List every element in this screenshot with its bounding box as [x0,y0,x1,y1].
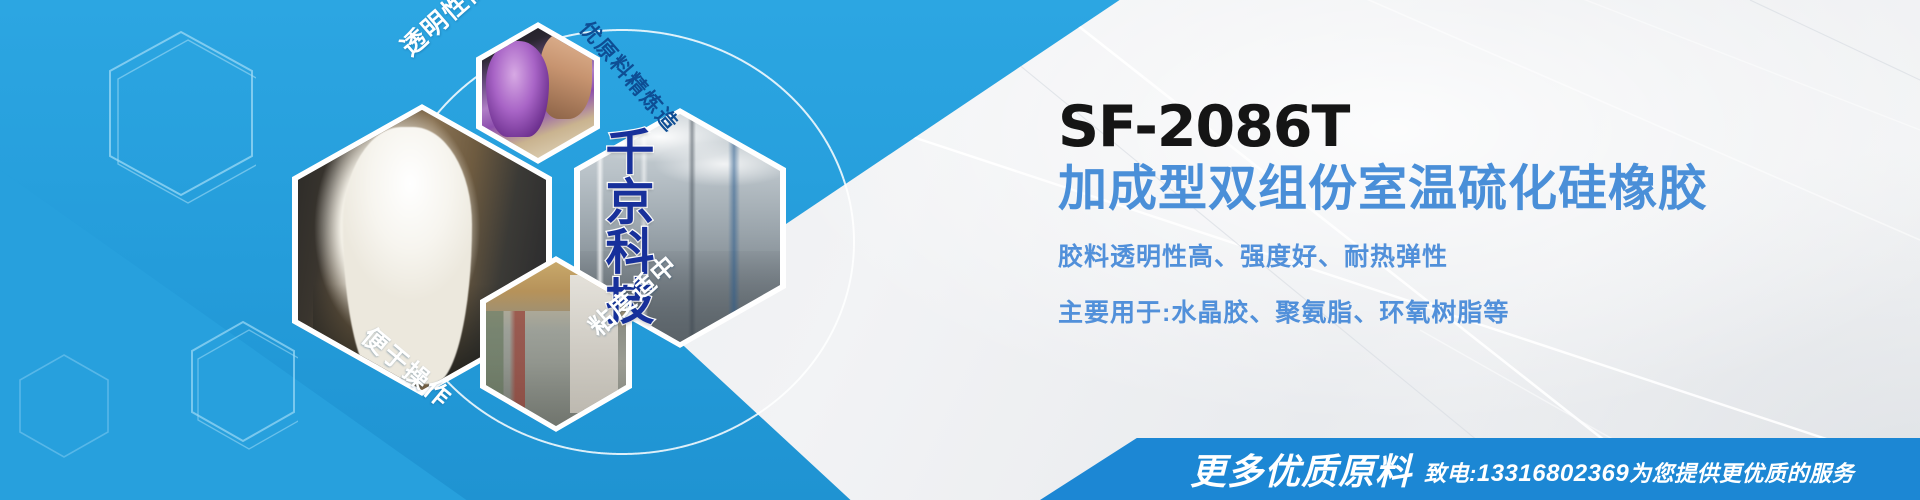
decorative-hexagon-icon [16,352,112,472]
contact-bar: 更多优质原料 致电:13316802369为您提供更优质的服务 [1040,438,1920,500]
product-banner: 千 京 科 技 透明性高 优原料精炼造 便于操作 粘度适中 SF-2086T 加… [0,0,1920,500]
contact-bar-heading: 更多优质原料 [1190,443,1412,495]
call-prefix-label: 致电: [1424,461,1477,486]
product-application-line: 主要用于:水晶胶、聚氨脂、环氧树脂等 [1058,296,1888,330]
brand-char: 京 [598,178,662,228]
product-sku: SF-2086T [1058,96,1888,158]
contact-bar-text: 致电:13316802369为您提供更优质的服务 [1424,456,1854,488]
product-feature-line: 胶料透明性高、强度好、耐热弹性 [1058,240,1888,274]
phone-number[interactable]: 13316802369 [1477,460,1629,487]
decorative-hexagon-icon [106,28,256,208]
product-headline: 加成型双组份室温硫化硅橡胶 [1058,160,1888,218]
decorative-hexagon-icon [188,318,298,458]
brand-char: 千 [598,128,662,178]
copy-block: SF-2086T 加成型双组份室温硫化硅橡胶 胶料透明性高、强度好、耐热弹性 主… [1058,96,1888,330]
call-suffix-label: 为您提供更优质的服务 [1629,461,1854,486]
